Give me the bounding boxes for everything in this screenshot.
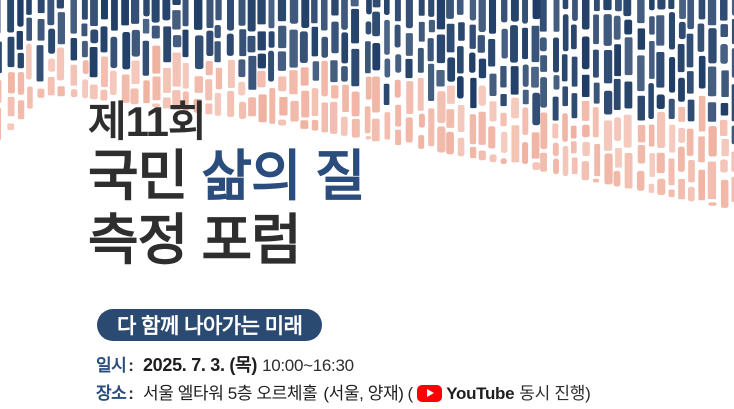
venue-colon: : <box>128 385 134 402</box>
youtube-wordmark: YouTube <box>446 385 514 402</box>
slogan-banner: 다 함께 나아가는 미래 <box>97 309 322 341</box>
date-label: 일시 <box>96 357 126 374</box>
play-triangle-icon <box>427 389 434 397</box>
title-line-1-blue: 삶의 질 <box>201 145 364 207</box>
edition-label: 제11회 <box>88 100 688 144</box>
title-line-2: 측정 포럼 <box>88 210 688 272</box>
stream-open-paren: ( <box>408 385 414 402</box>
title-line-2-second: 포럼 <box>201 209 300 271</box>
venue-value: 서울 엘타워 5층 오르체홀 <box>143 385 317 402</box>
youtube-play-icon <box>417 385 442 402</box>
venue-label: 장소 <box>96 385 126 402</box>
venue-area: (서울, 양재) <box>323 385 403 402</box>
info-block: 일시 : 2025. 7. 3. (목) 10:00~16:30 장소 : 서울… <box>96 351 734 407</box>
venue-row: 장소 : 서울 엘타워 5층 오르체홀 (서울, 양재) ( YouTube 동… <box>96 379 734 407</box>
stream-suffix: 동시 진행) <box>519 385 590 402</box>
youtube-stream-badge: ( YouTube 동시 진행) <box>408 385 591 402</box>
headline-block: 제11회 국민 삶의 질 측정 포럼 <box>88 100 688 271</box>
date-colon: : <box>128 357 134 374</box>
event-poster: 제11회 국민 삶의 질 측정 포럼 다 함께 나아가는 미래 일시 : 202… <box>0 0 734 409</box>
date-row: 일시 : 2025. 7. 3. (목) 10:00~16:30 <box>96 351 734 379</box>
title-line-1-dark: 국민 <box>88 145 187 207</box>
date-value: 2025. 7. 3. (목) <box>143 356 257 374</box>
date-time: 10:00~16:30 <box>262 357 354 374</box>
title-line-1: 국민 삶의 질 <box>88 146 688 208</box>
title-line-2-dark: 측정 <box>88 209 187 271</box>
